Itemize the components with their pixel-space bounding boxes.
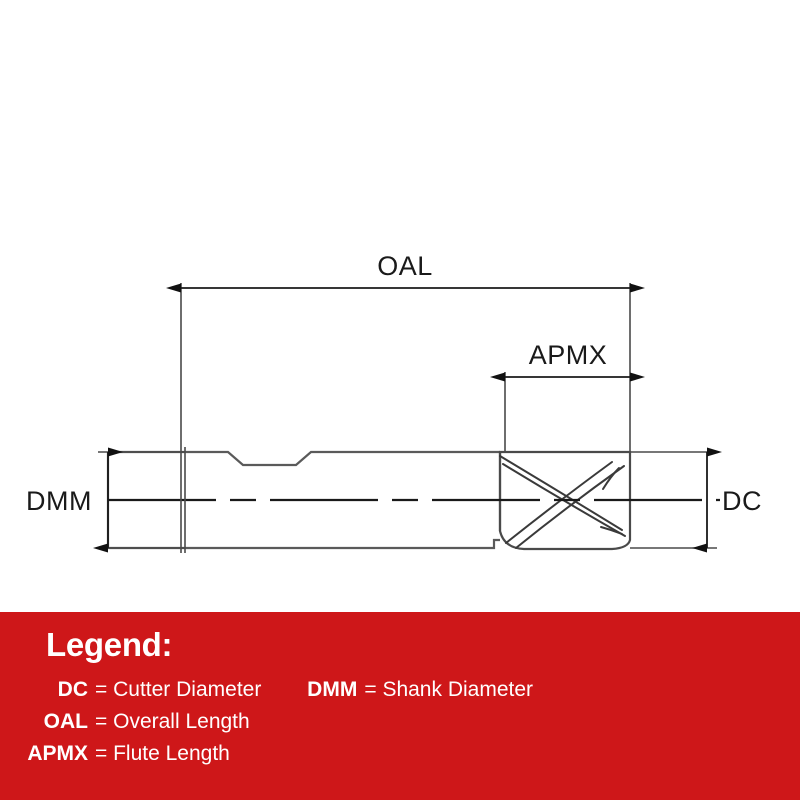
legend-def-text-oal: Overall Length bbox=[113, 710, 250, 733]
legend-row-first: DC = Cutter Diameter DMM = Shank Diamete… bbox=[0, 678, 800, 710]
legend-abbr-dmm: DMM bbox=[261, 678, 357, 702]
legend-abbr-apmx: APMX bbox=[0, 742, 88, 766]
legend-abbr-dc: DC bbox=[0, 678, 88, 702]
legend-def-text-dc: Cutter Diameter bbox=[113, 678, 261, 701]
shank-bottom-profile bbox=[108, 540, 500, 548]
legend-abbr-oal: OAL bbox=[0, 710, 88, 734]
dimension-label-dmm: DMM bbox=[26, 486, 92, 516]
legend-def-dmm: = Shank Diameter bbox=[357, 678, 533, 702]
dimension-label-dc: DC bbox=[722, 486, 762, 516]
legend-sep-apmx: = bbox=[95, 742, 107, 765]
flute-helix-back bbox=[506, 462, 612, 543]
dimension-dmm: DMM bbox=[26, 452, 108, 548]
dimension-apmx: APMX bbox=[505, 340, 630, 377]
flute-helix-back-edge bbox=[516, 466, 624, 548]
tool-drawing-area: OAL APMX DMM DC bbox=[0, 0, 800, 612]
legend-def-text-dmm: Shank Diameter bbox=[382, 678, 533, 701]
dimension-label-apmx: APMX bbox=[529, 340, 608, 370]
legend-row-oal: OAL = Overall Length bbox=[0, 710, 800, 742]
dimension-oal: OAL bbox=[181, 251, 630, 288]
flute-helix-group bbox=[500, 456, 625, 548]
shank-top-profile bbox=[108, 452, 500, 465]
dimension-dc: DC bbox=[707, 452, 762, 548]
legend-def-text-apmx: Flute Length bbox=[113, 742, 230, 765]
legend-sep-dc: = bbox=[95, 678, 107, 701]
legend-title: Legend: bbox=[46, 626, 172, 664]
tool-technical-drawing: OAL APMX DMM DC bbox=[0, 0, 800, 612]
legend-sep-dmm: = bbox=[364, 678, 376, 701]
legend-entries-list: DC = Cutter Diameter DMM = Shank Diamete… bbox=[0, 678, 800, 774]
legend-def-oal: = Overall Length bbox=[88, 710, 250, 734]
extension-lines-group bbox=[98, 283, 717, 553]
legend-row-apmx: APMX = Flute Length bbox=[0, 742, 800, 774]
legend-def-dc: = Cutter Diameter bbox=[88, 678, 261, 702]
legend-sep-oal: = bbox=[95, 710, 107, 733]
dimension-label-oal: OAL bbox=[377, 251, 433, 281]
legend-def-apmx: = Flute Length bbox=[88, 742, 230, 766]
legend-band: Legend: DC = Cutter Diameter DMM = Shank… bbox=[0, 612, 800, 800]
